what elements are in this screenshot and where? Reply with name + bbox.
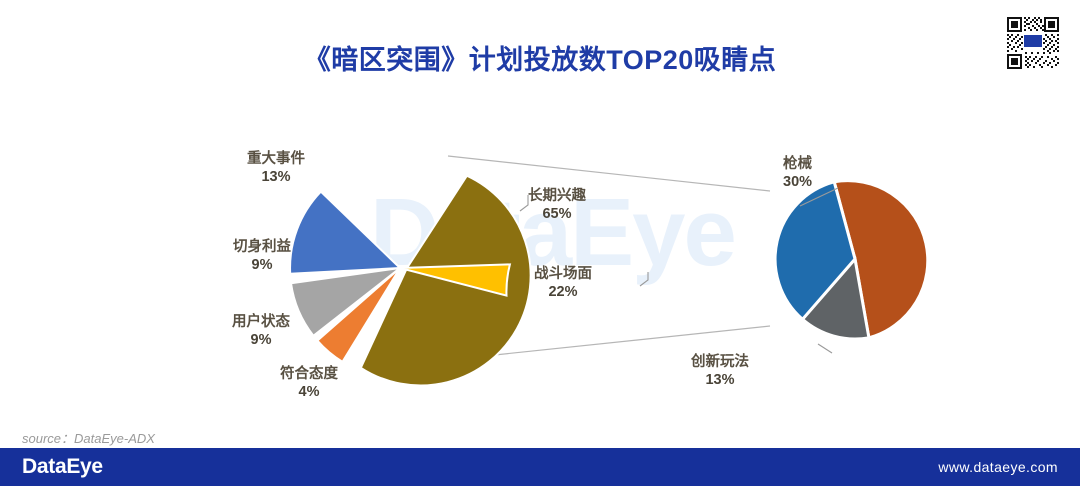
primary-pie <box>290 176 531 386</box>
label-name-firearms: 枪械 <box>783 156 812 174</box>
breakout-pie <box>775 181 928 339</box>
label-pct-long-term-interest: 65% <box>528 206 586 224</box>
pie-label-firearms: 枪械 30% <box>783 156 812 191</box>
label-pct-innovative-gameplay: 13% <box>691 372 749 390</box>
page-title: 《暗区突围》计划投放数TOP20吸睛点 <box>0 38 1080 77</box>
pie-label-personal-interest: 切身利益 9% <box>233 239 291 274</box>
footer-url[interactable]: www.dataeye.com <box>938 459 1058 475</box>
label-pct-user-status: 9% <box>232 332 290 350</box>
pie-label-combat-scene: 战斗场面 22% <box>534 266 592 301</box>
source-text: source：DataEye-ADX <box>22 428 155 447</box>
label-name-major-event: 重大事件 <box>247 151 305 169</box>
pie-slice-major-event[interactable] <box>290 192 400 274</box>
label-name-personal-interest: 切身利益 <box>233 239 291 257</box>
leader-innovative-gameplay <box>818 344 832 353</box>
pie-label-matching-attitude: 符合态度 4% <box>280 366 338 401</box>
label-name-user-status: 用户状态 <box>232 314 290 332</box>
label-pct-firearms: 30% <box>783 174 812 192</box>
label-name-innovative-gameplay: 创新玩法 <box>691 354 749 372</box>
pie-label-innovative-gameplay: 创新玩法 13% <box>691 354 749 389</box>
footer-logo: DataEye <box>22 455 103 479</box>
leader-long-term-interest <box>520 195 528 211</box>
leader-combat-scene <box>640 272 648 286</box>
footer-bar: DataEye www.dataeye.com <box>0 448 1080 486</box>
pie-charts-container: 重大事件 13% 切身利益 9% 用户状态 9% 符合态度 4% 长期兴趣 65… <box>0 96 1080 396</box>
label-pct-personal-interest: 9% <box>233 257 291 275</box>
pie-label-user-status: 用户状态 9% <box>232 314 290 349</box>
pie-label-long-term-interest: 长期兴趣 65% <box>528 188 586 223</box>
label-name-matching-attitude: 符合态度 <box>280 366 338 384</box>
qr-code-center-logo <box>1023 34 1043 48</box>
label-pct-combat-scene: 22% <box>534 284 592 302</box>
slide-canvas: 《暗区突围》计划投放数TOP20吸睛点 <box>0 0 1080 486</box>
label-pct-major-event: 13% <box>247 169 305 187</box>
label-pct-matching-attitude: 4% <box>280 384 338 402</box>
pie-label-major-event: 重大事件 13% <box>247 151 305 186</box>
qr-code[interactable] <box>1003 13 1063 73</box>
label-name-long-term-interest: 长期兴趣 <box>528 188 586 206</box>
label-name-combat-scene: 战斗场面 <box>534 266 592 284</box>
